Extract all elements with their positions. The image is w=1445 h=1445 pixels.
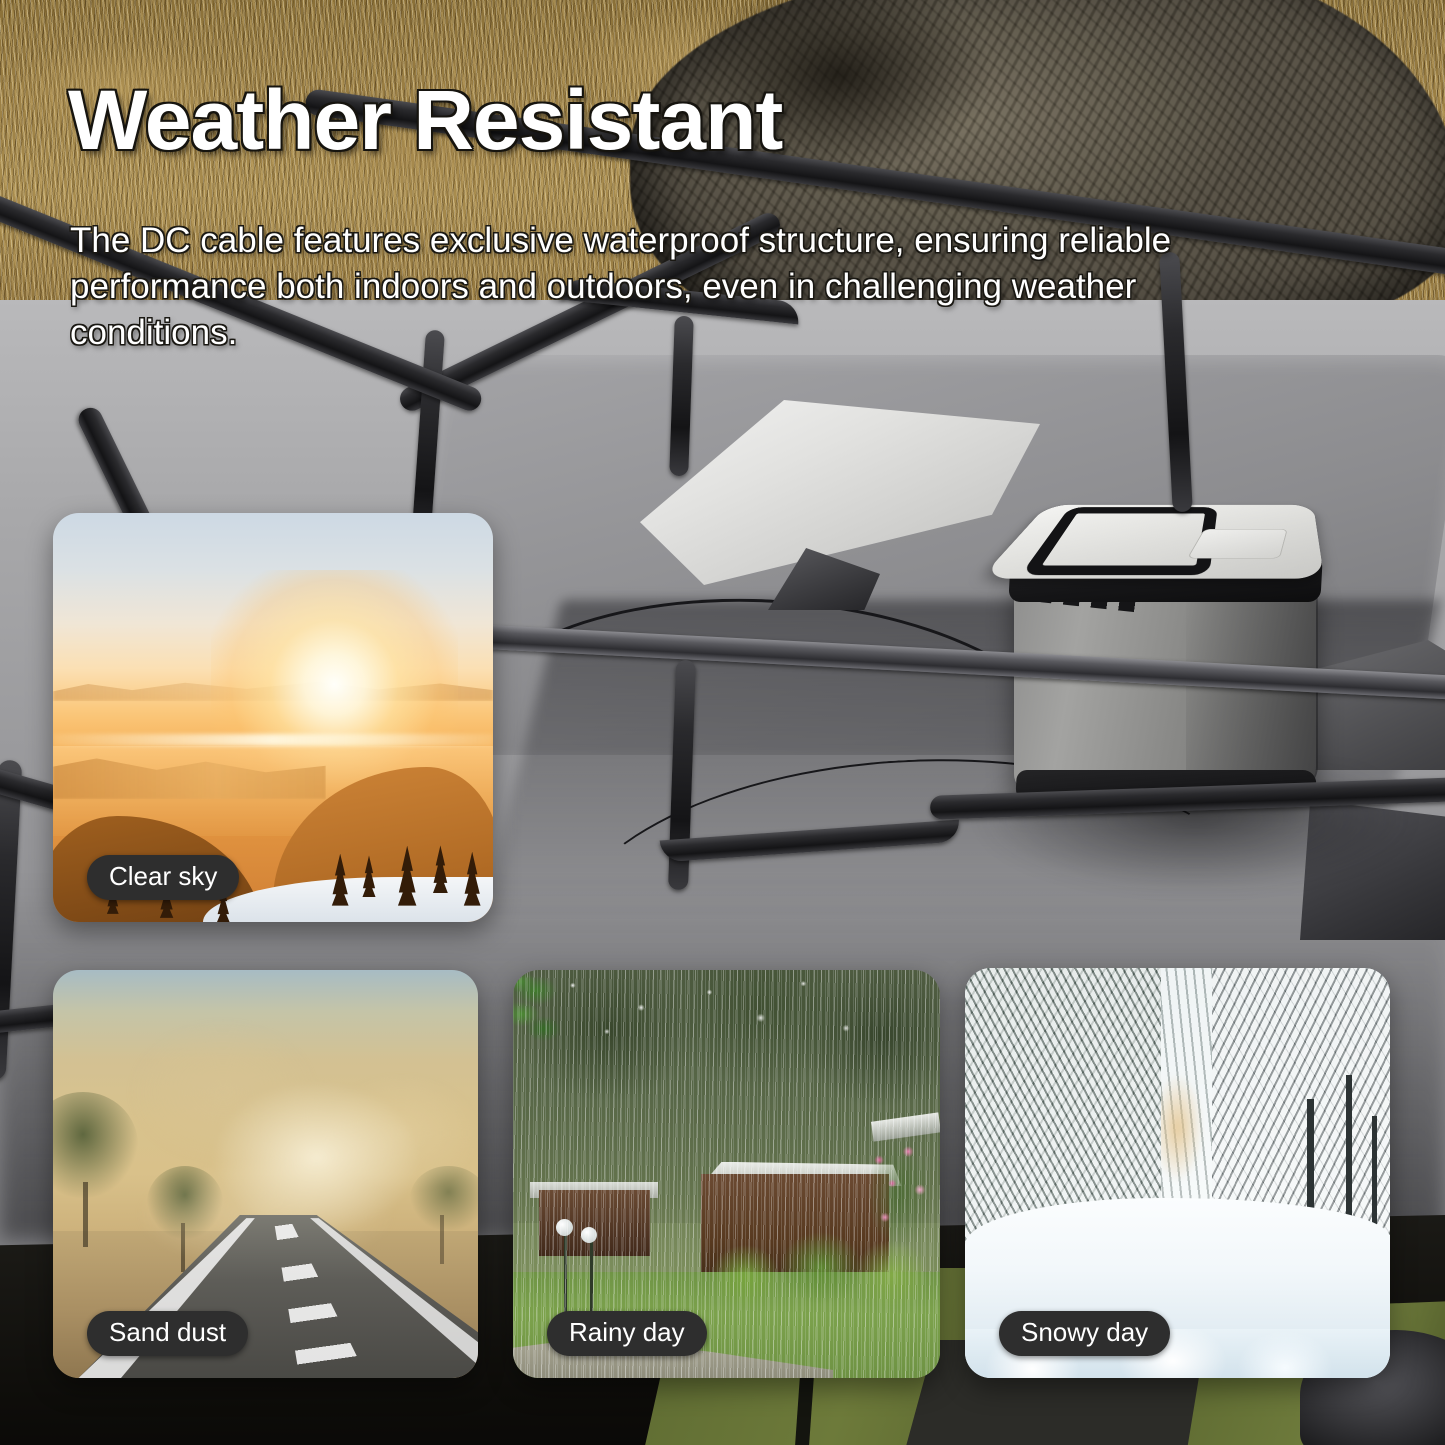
rain-droplets xyxy=(513,970,940,1141)
weather-card-snowy-day[interactable]: Snowy day xyxy=(965,968,1390,1378)
solar-panel xyxy=(640,400,1060,620)
weather-card-rainy-day[interactable]: Rainy day xyxy=(513,970,940,1378)
page-description: The DC cable features exclusive waterpro… xyxy=(70,218,1310,357)
weather-label-rainy-day: Rainy day xyxy=(547,1311,707,1356)
weather-label-snowy-day: Snowy day xyxy=(999,1311,1170,1356)
product-feature-image: Weather Resistant The DC cable features … xyxy=(0,0,1445,1445)
weather-card-sand-dust[interactable]: Sand dust xyxy=(53,970,478,1378)
weather-label-clear-sky: Clear sky xyxy=(87,855,239,900)
solar-panel-surface xyxy=(640,400,1040,585)
horizon-streak xyxy=(53,734,493,746)
page-title: Weather Resistant xyxy=(68,78,782,162)
power-station-port-cover xyxy=(1187,529,1288,558)
weather-label-sand-dust: Sand dust xyxy=(87,1311,248,1356)
weather-card-clear-sky[interactable]: Clear sky xyxy=(53,513,493,922)
